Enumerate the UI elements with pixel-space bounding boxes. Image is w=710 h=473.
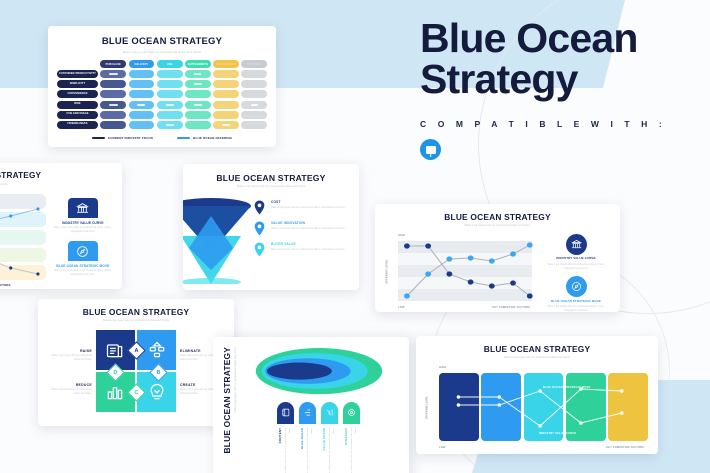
cell xyxy=(185,111,211,119)
eliminate-icon xyxy=(147,340,167,360)
item-desc: Make a big impact with our professional … xyxy=(329,428,336,473)
slide4-line-series xyxy=(398,241,532,301)
cell xyxy=(100,80,126,88)
reduce-icon xyxy=(105,382,125,402)
calendar-icon xyxy=(277,402,294,424)
row-label-risk: RISK xyxy=(57,101,98,109)
item-desc: Make a big impact with our professional … xyxy=(271,248,345,252)
slide6-item-content[interactable]: CONTENT Make a big impact with our profe… xyxy=(277,402,294,473)
chart-icon xyxy=(299,402,316,424)
cell xyxy=(241,80,267,88)
slide5-text-reduce: REDUCE Make a big impact with our profes… xyxy=(47,383,92,397)
item-desc: Make a big impact with our professional … xyxy=(271,227,345,231)
hero-title-line1: Blue Ocean xyxy=(420,18,692,59)
cell xyxy=(157,101,183,109)
poster-canvas: Blue Ocean Strategy C O M P A T I B L E … xyxy=(0,0,710,473)
slide3-item-value-innovation[interactable]: VALUE INNOVATION Make a big impact with … xyxy=(253,221,349,236)
cell xyxy=(185,121,211,129)
column-header-maintenance: MAINTENANCE xyxy=(213,60,239,68)
item-label: BLUE OCEAN xyxy=(301,428,305,473)
slide4-x-axis-label: KEY COMPETING FACTORS xyxy=(492,306,530,309)
slide3-subtitle: Make a big impact with our professional … xyxy=(193,185,349,189)
hero-block: Blue Ocean Strategy C O M P A T I B L E … xyxy=(420,18,692,160)
item-desc: Make a big impact with our professional … xyxy=(351,428,358,473)
compass-icon xyxy=(68,241,98,261)
slide7-y-axis-label: OFFERING LEVEL xyxy=(425,396,428,420)
slide1-legend: CURRENT INDUSTRY FOCUS BLUE OCEAN OFFERI… xyxy=(57,136,267,140)
legend-swatch xyxy=(92,137,105,139)
slide-card-hourglass-value[interactable]: BLUE OCEAN STRATEGY Make a big impact wi… xyxy=(183,164,359,290)
bank-icon xyxy=(566,234,587,255)
slide-card-value-curve-line-chart[interactable]: BLUE OCEAN STRATEGY Make a big impact wi… xyxy=(375,204,620,312)
table-row: SIMPLICITY xyxy=(57,80,267,88)
slide6-item-blue-ocean[interactable]: BLUE OCEAN Make a big impact with our pr… xyxy=(299,402,316,473)
item-label: VALUE CURVE xyxy=(323,428,327,473)
cell xyxy=(213,121,239,129)
column-header-disposal: DISPOSAL xyxy=(241,60,267,68)
slide4-y-high-label: HIGH xyxy=(398,234,405,237)
cell xyxy=(100,101,126,109)
slide5-title: BLUE OCEAN STRATEGY xyxy=(47,307,225,317)
slide1-title: BLUE OCEAN STRATEGY xyxy=(57,36,267,47)
legend-label: BLUE OCEAN OFFERING xyxy=(193,136,232,140)
card-label: INDUSTRY VALUE CURVE xyxy=(542,257,610,261)
slide2-line-series xyxy=(0,194,46,280)
cell xyxy=(157,121,183,129)
slide7-note-industry-curve: INDUSTRY VALUE CURVE xyxy=(539,432,576,435)
slide4-y-low-label: LOW xyxy=(398,306,405,309)
raise-icon xyxy=(105,340,125,360)
item-label: VALUE INNOVATION xyxy=(271,221,345,225)
cell xyxy=(213,111,239,119)
item-desc: Make a big impact with our professional … xyxy=(307,428,314,473)
cell xyxy=(241,101,267,109)
cell xyxy=(129,111,155,119)
slide1-subtitle: Make a big impact with our professional … xyxy=(57,50,267,55)
cell xyxy=(157,70,183,78)
cell xyxy=(213,90,239,98)
strategy-canvas-table: PURCHASE DELIVERY USE SUPPLEMENTS MAINTE… xyxy=(57,60,267,129)
cell xyxy=(213,101,239,109)
target-icon xyxy=(343,402,360,424)
slide2-card-blue-ocean-strategic-move[interactable]: BLUE OCEAN STRATEGIC MOVE Make a big imp… xyxy=(53,241,113,277)
map-pin-icon xyxy=(253,242,266,257)
cell xyxy=(213,70,239,78)
corner-spacer xyxy=(57,60,98,68)
cell xyxy=(157,111,183,119)
slide2-x-axis-label: KEY COMPETING FACTORS xyxy=(0,283,11,287)
slide5-subtitle: Make a big impact with our professional … xyxy=(47,319,225,323)
column-header-supplements: SUPPLEMENTS xyxy=(185,60,211,68)
slide3-item-cost[interactable]: COST Make a big impact with our professi… xyxy=(253,200,349,215)
cell xyxy=(157,90,183,98)
card-desc: Make a big impact with our professional … xyxy=(542,305,610,312)
table-row: CUSTOMER PRODUCTIVITY xyxy=(57,70,267,78)
item-desc: Make a big impact with our professional … xyxy=(285,428,292,473)
card-desc: Make a big impact with our professional … xyxy=(542,263,610,271)
card-desc: Make a big impact with our professional … xyxy=(53,269,113,277)
slide4-card-blue-ocean-strategic-move[interactable]: BLUE OCEAN STRATEGIC MOVE Make a big imp… xyxy=(542,276,610,312)
table-row: RISK xyxy=(57,101,267,109)
slide2-card-industry-value-curve[interactable]: INDUSTRY VALUE CURVE Make a big impact w… xyxy=(53,198,113,234)
slide3-item-buyer-value[interactable]: BUYER VALUE Make a big impact with our p… xyxy=(253,242,349,257)
column-header-delivery: DELIVERY xyxy=(129,60,155,68)
slide6-item-strategy[interactable]: STRATEGY Make a big impact with our prof… xyxy=(343,402,360,473)
slide7-note-strategic-move: BLUE OCEAN STRATEGIC MOVE xyxy=(543,386,591,389)
slide6-title: BLUE OCEAN STRATEGY xyxy=(222,347,232,473)
row-label-customer-productivity: CUSTOMER PRODUCTIVITY xyxy=(57,70,98,78)
item-label: BUYER VALUE xyxy=(271,242,345,246)
hourglass-graphic xyxy=(183,196,253,284)
slide4-title: BLUE OCEAN STRATEGY xyxy=(385,212,610,222)
compass-icon xyxy=(566,276,587,297)
errc-quadrant-grid: A B C D xyxy=(96,330,176,412)
slide4-card-industry-value-curve[interactable]: INDUSTRY VALUE CURVE Make a big impact w… xyxy=(542,234,610,271)
slide6-subtitle: Make a big impact with our professional … xyxy=(234,347,238,473)
quadrant-desc: Make a big impact with our professional … xyxy=(47,389,92,397)
bank-icon xyxy=(68,198,98,218)
item-desc: Make a big impact with our professional … xyxy=(271,206,345,210)
legend-item-blue-ocean-offering: BLUE OCEAN OFFERING xyxy=(177,136,232,140)
cell xyxy=(129,70,155,78)
cell xyxy=(157,80,183,88)
table-row: FUN AND IMAGE xyxy=(57,111,267,119)
cell xyxy=(185,70,211,78)
cell xyxy=(129,121,155,129)
cell xyxy=(100,70,126,78)
powerpoint-icon[interactable] xyxy=(420,139,441,160)
card-label: BLUE OCEAN STRATEGIC MOVE xyxy=(542,300,610,304)
cell xyxy=(185,80,211,88)
legend-swatch xyxy=(177,137,190,139)
cell xyxy=(100,121,126,129)
slide7-line-series xyxy=(439,373,648,441)
slide-card-strategy-canvas[interactable]: BLUE OCEAN STRATEGY Make a big impact wi… xyxy=(48,26,276,147)
slide-card-surfboard-list[interactable]: BLUE OCEAN STRATEGY Make a big impact wi… xyxy=(213,337,409,473)
slide-card-column-value-curve[interactable]: BLUE OCEAN STRATEGY Make a big impact wi… xyxy=(416,336,658,454)
slide-card-errc-grid[interactable]: BLUE OCEAN STRATEGY Make a big impact wi… xyxy=(38,299,234,426)
slide2-chart: KEY COMPETING FACTORS xyxy=(0,194,46,280)
cell xyxy=(241,111,267,119)
legend-label: CURRENT INDUSTRY FOCUS xyxy=(108,136,153,140)
column-header-use: USE xyxy=(157,60,183,68)
quadrant-label: RAISE xyxy=(47,349,92,353)
cell xyxy=(241,90,267,98)
slide2-subtitle: Make a big impact with our professional … xyxy=(0,182,113,186)
cell xyxy=(129,80,155,88)
slide5-text-raise: RAISE Make a big impact with our profess… xyxy=(47,349,92,363)
column-header-purchase: PURCHASE xyxy=(100,60,126,68)
graph-icon xyxy=(321,402,338,424)
table-header-row: PURCHASE DELIVERY USE SUPPLEMENTS MAINTE… xyxy=(57,60,267,68)
table-row: CONVENIENCE xyxy=(57,90,267,98)
quadrant-desc: Make a big impact with our professional … xyxy=(47,355,92,363)
card-label: INDUSTRY VALUE CURVE xyxy=(53,221,113,225)
slide2-title: BLUE OCEAN STRATEGY xyxy=(0,171,113,180)
cell xyxy=(241,121,267,129)
cell xyxy=(185,90,211,98)
table-row: FRIENDLINESS xyxy=(57,121,267,129)
legend-item-current-industry-focus: CURRENT INDUSTRY FOCUS xyxy=(92,136,153,140)
slide4-y-axis-label: OFFERING LEVEL xyxy=(386,259,389,283)
row-label-simplicity: SIMPLICITY xyxy=(57,80,98,88)
compatible-with-label: C O M P A T I B L E W I T H : xyxy=(420,119,692,129)
powerpoint-glyph xyxy=(426,146,436,154)
slide7-chart: HIGH LOW OFFERING LEVEL KEY COMPETING FA… xyxy=(426,366,648,450)
slide7-title: BLUE OCEAN STRATEGY xyxy=(426,344,648,354)
item-label: CONTENT xyxy=(279,428,283,473)
map-pin-icon xyxy=(253,221,266,236)
cell xyxy=(213,80,239,88)
create-icon xyxy=(147,382,167,402)
row-label-convenience: CONVENIENCE xyxy=(57,90,98,98)
cell xyxy=(185,101,211,109)
row-label-friendliness: FRIENDLINESS xyxy=(57,121,98,129)
cell xyxy=(129,101,155,109)
slide7-subtitle: Make a big impact with our professional … xyxy=(426,356,648,360)
surfboard-graphic xyxy=(244,347,394,395)
cell xyxy=(100,90,126,98)
row-label-fun-and-image: FUN AND IMAGE xyxy=(57,111,98,119)
slide7-x-axis-label: KEY COMPETING FACTORS xyxy=(606,446,644,449)
slide4-subtitle: Make a big impact with our professional … xyxy=(385,224,610,228)
slide3-title: BLUE OCEAN STRATEGY xyxy=(193,173,349,183)
slide7-y-low-label: LOW xyxy=(439,446,446,449)
map-pin-icon xyxy=(253,200,266,215)
cell xyxy=(241,70,267,78)
slide6-item-value-curve[interactable]: VALUE CURVE Make a big impact with our p… xyxy=(321,402,338,473)
slide4-chart: HIGH LOW OFFERING LEVEL KEY COMPETING FA… xyxy=(385,234,532,310)
slide-card-value-curve-bands[interactable]: BLUE OCEAN STRATEGY Make a big impact wi… xyxy=(0,163,122,289)
item-label: COST xyxy=(271,200,345,204)
card-desc: Make a big impact with our professional … xyxy=(53,226,113,234)
cell xyxy=(129,90,155,98)
quadrant-label: REDUCE xyxy=(47,383,92,387)
slide7-y-high-label: HIGH xyxy=(439,366,446,369)
hero-title-line2: Strategy xyxy=(420,59,692,100)
card-label: BLUE OCEAN STRATEGIC MOVE xyxy=(53,264,113,268)
item-label: STRATEGY xyxy=(345,428,349,473)
cell xyxy=(100,111,126,119)
